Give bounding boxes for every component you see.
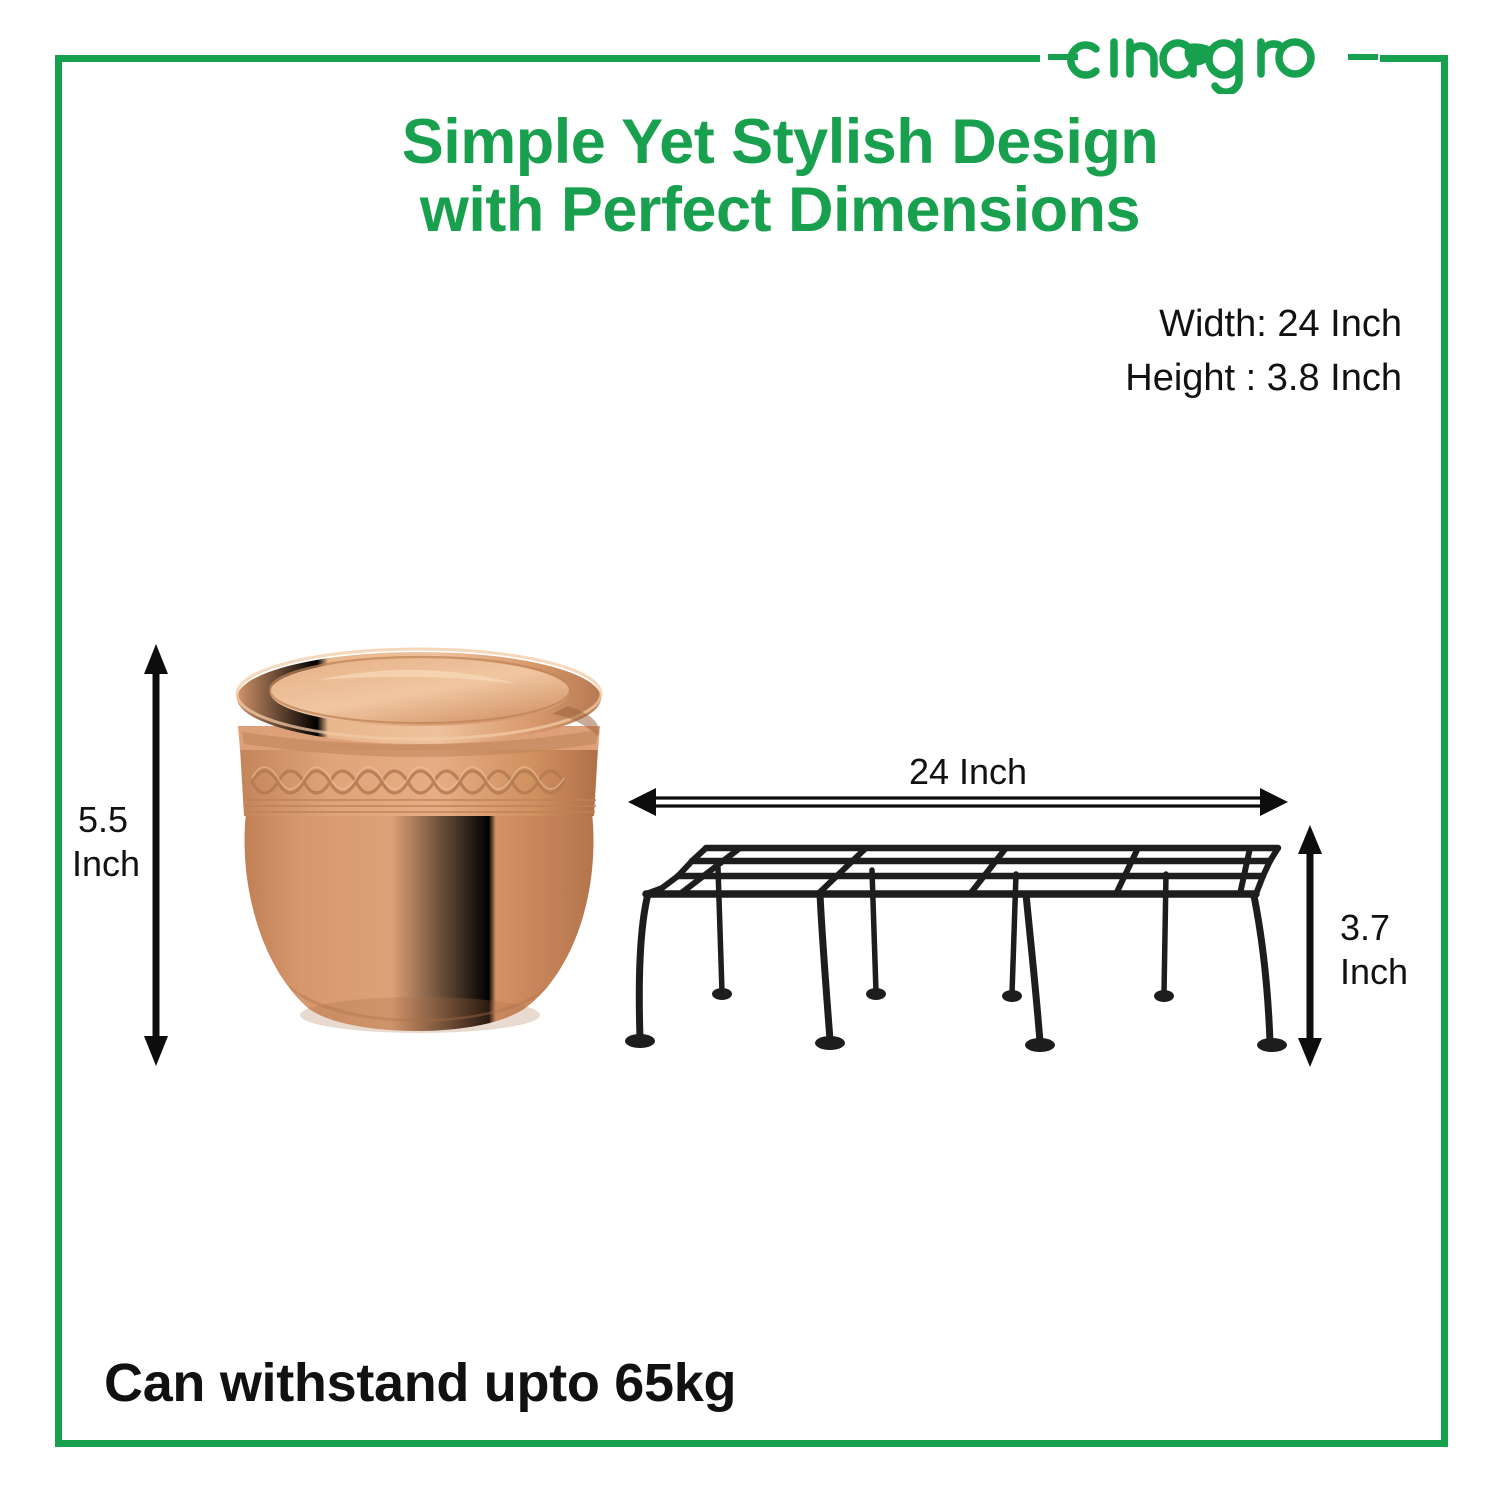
stand-height-unit: Inch: [1340, 950, 1420, 994]
pot-opening: [270, 658, 570, 726]
frame-top-left-segment: [55, 55, 1040, 62]
stand-height-arrow: [1286, 822, 1334, 1070]
pot-height-value: 5.5: [72, 798, 134, 842]
load-capacity-text: Can withstand upto 65kg: [104, 1352, 736, 1414]
spec-list: Width: 24 Inch Height : 3.8 Inch: [1125, 298, 1402, 406]
stand-height-label: 3.7 Inch: [1340, 906, 1420, 994]
stand-leg-front-2: [820, 894, 830, 1040]
frame-right-edge: [1441, 55, 1448, 1447]
spec-width: Width: 24 Inch: [1125, 298, 1402, 352]
spec-height: Height : 3.8 Inch: [1125, 352, 1402, 406]
frame-top-right-segment: [1380, 55, 1448, 62]
stand-leg-front-1: [639, 894, 648, 1038]
stand-leg-front-3: [1026, 894, 1040, 1042]
stand-feet: [625, 988, 1287, 1052]
frame-left-edge: [55, 55, 62, 1447]
stand-leg-front-4: [1254, 896, 1270, 1042]
stand-height-value: 3.7: [1340, 906, 1420, 950]
infographic-canvas: Simple Yet Stylish Design with Perfect D…: [0, 0, 1500, 1500]
pot-height-label: 5.5 Inch: [72, 798, 134, 886]
pot-height-unit: Inch: [72, 842, 134, 886]
planter-pot-image: [168, 640, 668, 1060]
stand-width-label: 24 Inch: [828, 750, 1108, 794]
headline-line-1: Simple Yet Stylish Design: [402, 107, 1159, 177]
cinagro-logo: [1048, 22, 1378, 94]
page-title: Simple Yet Stylish Design with Perfect D…: [150, 108, 1410, 244]
frame-bottom-edge: [55, 1440, 1448, 1447]
stand-leg-back-1: [718, 868, 722, 992]
stand-leg-back-2: [872, 870, 876, 992]
plant-stand-image: [618, 826, 1308, 1076]
stand-leg-back-4: [1164, 874, 1166, 994]
headline-line-2: with Perfect Dimensions: [150, 176, 1410, 244]
